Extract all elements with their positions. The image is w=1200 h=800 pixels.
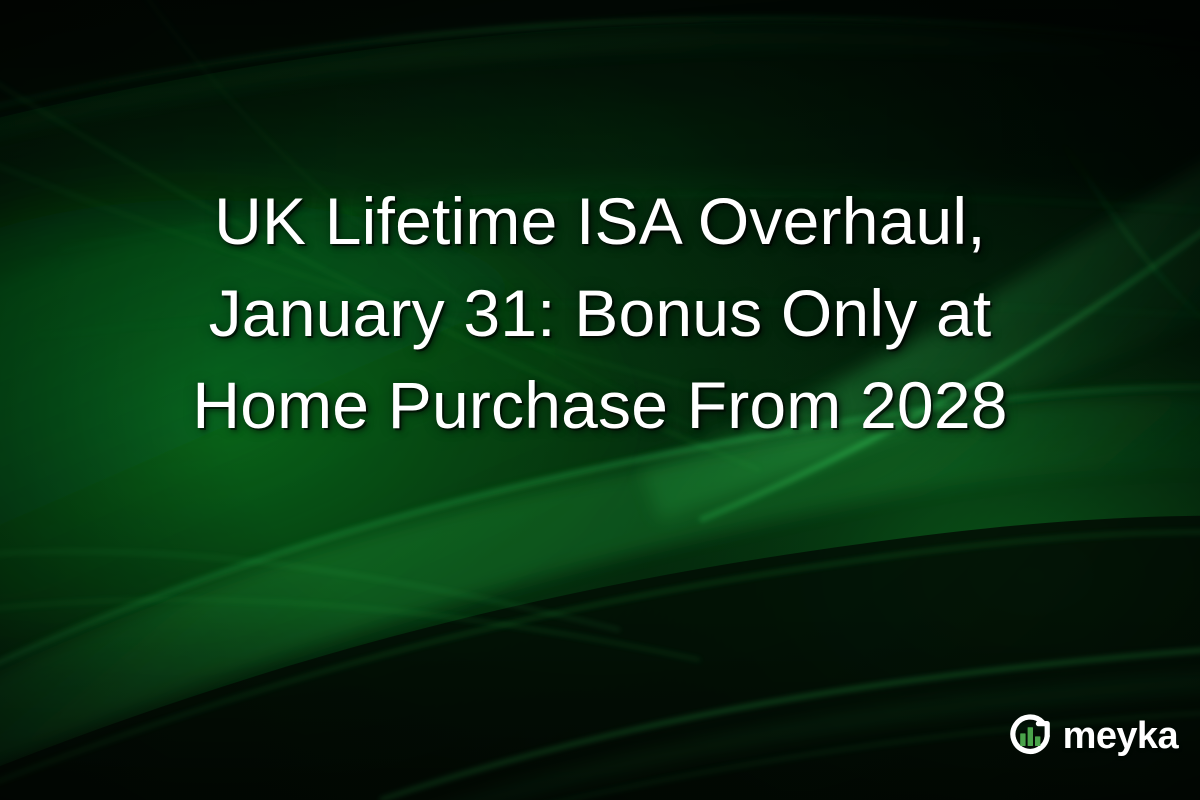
- headline-line-1: UK Lifetime ISA Overhaul,: [70, 175, 1130, 267]
- page-title: UK Lifetime ISA Overhaul, January 31: Bo…: [0, 175, 1200, 451]
- brand-logo[interactable]: meyka: [1004, 710, 1178, 762]
- headline-line-3: Home Purchase From 2028: [70, 359, 1130, 451]
- article-header-card: UK Lifetime ISA Overhaul, January 31: Bo…: [0, 0, 1200, 800]
- headline-line-2: January 31: Bonus Only at: [70, 267, 1130, 359]
- brand-wordmark: meyka: [1063, 717, 1178, 755]
- ring-bar-chart-icon: [1004, 710, 1056, 762]
